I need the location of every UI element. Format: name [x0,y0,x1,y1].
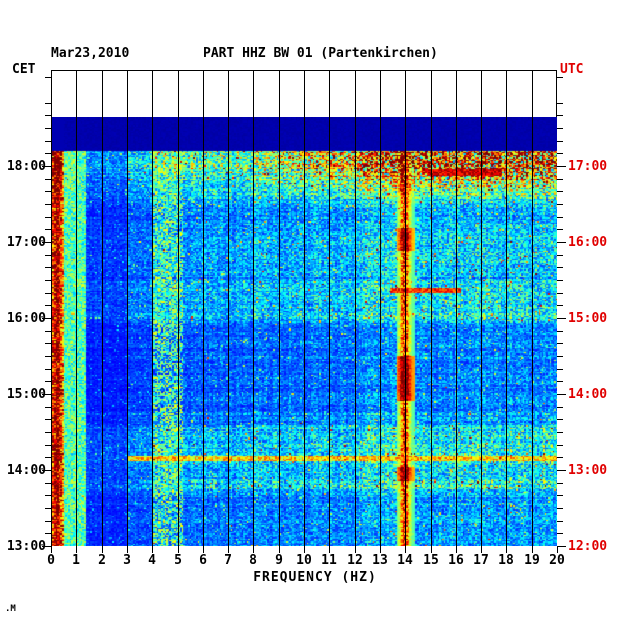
y-tick-minor-right [557,483,563,484]
x-tick-1 [76,546,77,553]
y-label-utc-14:00: 14:00 [568,387,624,402]
x-tick-7 [228,546,229,553]
grid-line-7hz [228,70,229,546]
y-tick-minor-left [45,407,51,408]
y-tick-minor-right [557,103,563,104]
date-title: Mar23,2010 [51,46,129,61]
grid-line-12hz [355,70,356,546]
y-tick-minor-right [557,419,563,420]
y-tick-minor-right [557,191,563,192]
y-tick-minor-left [45,293,51,294]
left-axis-timezone-label: CET [12,62,35,77]
grid-line-18hz [506,70,507,546]
y-tick-minor-right [557,204,563,205]
grid-line-6hz [203,70,204,546]
x-tick-13 [380,546,381,553]
y-tick-minor-right [557,267,563,268]
y-tick-minor-right [557,229,563,230]
y-tick-minor-right [557,343,563,344]
y-label-utc-13:00: 13:00 [568,463,624,478]
y-label-cet-13:00: 13:00 [0,539,46,554]
y-tick-minor-left [45,457,51,458]
y-tick-minor-left [45,229,51,230]
y-tick-minor-left [45,103,51,104]
corner-artifact-mark: .M [5,604,16,614]
y-tick-minor-left [45,267,51,268]
x-tick-19 [532,546,533,553]
y-tick-minor-right [557,77,563,78]
y-tick-minor-left [45,356,51,357]
x-tick-17 [481,546,482,553]
spectrogram-page: Mar23,2010 PART HHZ BW 01 (Partenkirchen… [0,0,630,624]
y-label-cet-15:00: 15:00 [0,387,46,402]
grid-line-17hz [481,70,482,546]
y-tick-minor-left [45,305,51,306]
x-tick-11 [329,546,330,553]
x-tick-20 [557,546,558,553]
right-axis-timezone-label: UTC [560,62,583,77]
x-tick-label-20hz: 20 [542,553,572,568]
y-tick-minor-left [45,521,51,522]
y-tick-minor-left [45,217,51,218]
y-tick-minor-right [557,179,563,180]
y-tick-minor-right [557,407,563,408]
y-tick-major-right-15:00 [557,318,566,319]
grid-line-16hz [456,70,457,546]
y-tick-minor-right [557,305,563,306]
x-tick-9 [279,546,280,553]
y-label-utc-16:00: 16:00 [568,235,624,250]
y-tick-minor-right [557,141,563,142]
y-tick-minor-right [557,457,563,458]
y-tick-minor-right [557,432,563,433]
x-tick-12 [355,546,356,553]
x-tick-14 [405,546,406,553]
station-title: PART HHZ BW 01 (Partenkirchen) [203,46,438,61]
y-tick-minor-right [557,115,563,116]
x-tick-6 [203,546,204,553]
x-tick-18 [506,546,507,553]
y-tick-major-right-17:00 [557,166,566,167]
grid-line-14hz [405,70,406,546]
grid-line-9hz [279,70,280,546]
y-tick-minor-right [557,445,563,446]
grid-line-19hz [532,70,533,546]
y-tick-minor-left [45,204,51,205]
y-tick-minor-left [45,483,51,484]
grid-line-8hz [253,70,254,546]
y-tick-minor-right [557,331,563,332]
y-tick-minor-left [45,495,51,496]
y-tick-minor-right [557,369,563,370]
y-tick-major-right-13:00 [557,470,566,471]
y-tick-minor-left [45,508,51,509]
y-tick-major-right-16:00 [557,242,566,243]
y-tick-minor-right [557,128,563,129]
y-tick-minor-left [45,343,51,344]
x-axis-title: FREQUENCY (HZ) [0,570,630,585]
y-tick-minor-left [45,179,51,180]
grid-line-15hz [431,70,432,546]
y-tick-minor-right [557,255,563,256]
y-tick-minor-left [45,533,51,534]
y-label-cet-18:00: 18:00 [0,159,46,174]
y-tick-minor-left [45,128,51,129]
y-tick-major-right-12:00 [557,546,566,547]
x-tick-4 [152,546,153,553]
y-tick-minor-left [45,153,51,154]
y-tick-minor-left [45,445,51,446]
x-tick-3 [127,546,128,553]
grid-line-4hz [152,70,153,546]
x-tick-15 [431,546,432,553]
y-tick-minor-right [557,508,563,509]
x-tick-0 [51,546,52,553]
y-label-utc-17:00: 17:00 [568,159,624,174]
x-tick-10 [304,546,305,553]
grid-line-3hz [127,70,128,546]
y-tick-minor-left [45,141,51,142]
y-label-cet-16:00: 16:00 [0,311,46,326]
grid-line-13hz [380,70,381,546]
y-tick-minor-left [45,381,51,382]
y-tick-minor-left [45,331,51,332]
grid-line-10hz [304,70,305,546]
x-tick-16 [456,546,457,553]
y-tick-minor-right [557,217,563,218]
y-tick-minor-right [557,521,563,522]
x-tick-8 [253,546,254,553]
y-tick-minor-right [557,153,563,154]
y-tick-minor-right [557,495,563,496]
y-label-utc-12:00: 12:00 [568,539,624,554]
y-tick-major-right-14:00 [557,394,566,395]
y-tick-minor-right [557,293,563,294]
x-tick-2 [102,546,103,553]
y-tick-minor-left [45,432,51,433]
y-tick-minor-left [45,115,51,116]
y-label-cet-17:00: 17:00 [0,235,46,250]
y-tick-minor-right [557,381,563,382]
y-tick-minor-left [45,419,51,420]
y-tick-minor-right [557,533,563,534]
y-tick-minor-right [557,356,563,357]
y-tick-minor-left [45,280,51,281]
grid-line-11hz [329,70,330,546]
grid-line-1hz [76,70,77,546]
y-tick-minor-left [45,369,51,370]
grid-line-2hz [102,70,103,546]
y-tick-minor-left [45,191,51,192]
y-tick-minor-right [557,280,563,281]
y-tick-minor-left [45,77,51,78]
y-label-cet-14:00: 14:00 [0,463,46,478]
x-tick-5 [178,546,179,553]
y-tick-minor-left [45,255,51,256]
grid-line-5hz [178,70,179,546]
y-label-utc-15:00: 15:00 [568,311,624,326]
